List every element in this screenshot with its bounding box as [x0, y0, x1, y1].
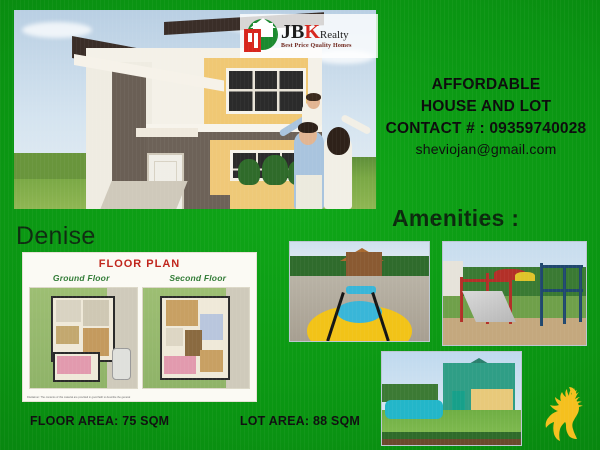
shrub — [238, 159, 260, 185]
amenities-heading: Amenities : — [392, 205, 519, 232]
prancing-horse-icon — [536, 384, 592, 442]
poster-canvas: JBK Realty Best Price Quality Homes AFFO… — [0, 0, 600, 450]
second-floor-plan-image — [142, 287, 251, 389]
father-hair — [298, 122, 318, 133]
cloud — [22, 22, 92, 38]
contact-line-affordable: AFFORDABLE — [378, 74, 594, 96]
floor-plan-title: FLOOR PLAN — [23, 258, 256, 270]
logo-text-block: JBK Realty Best Price Quality Homes — [281, 22, 352, 51]
area-specs-bar: FLOOR AREA: 75 SQM LOT AREA: 88 SQM — [30, 414, 360, 428]
contact-line-house-and-lot: HOUSE AND LOT — [378, 96, 594, 118]
walkway — [100, 181, 187, 209]
logo-realty-text: Realty — [320, 30, 349, 41]
contact-block: AFFORDABLE HOUSE AND LOT CONTACT # : 093… — [378, 74, 594, 160]
ground-floor-plan-image — [29, 287, 138, 389]
jbk-realty-logo: JBK Realty Best Price Quality Homes — [240, 14, 378, 58]
father-legs — [296, 175, 322, 209]
logo-house-icon — [244, 19, 278, 53]
logo-jbk-text: JBK — [281, 22, 320, 42]
porch-roof — [136, 128, 198, 137]
amenity-basketball-court-photo — [289, 241, 430, 342]
floor-area-text: FLOOR AREA: 75 SQM — [30, 414, 169, 428]
floor-plan-disclaimer: Disclaimer: The contents of this materia… — [27, 396, 252, 399]
amenity-playground-photo — [442, 241, 587, 346]
label-ground-floor: Ground Floor — [23, 273, 140, 283]
model-name-title: Denise — [16, 222, 96, 251]
mother-hair — [327, 127, 350, 155]
logo-tagline: Best Price Quality Homes — [281, 43, 352, 49]
amenity-clubhouse-pool-photo — [381, 351, 522, 446]
floor-plan-images — [23, 283, 256, 389]
contact-line-phone: CONTACT # : 09359740028 — [378, 118, 594, 140]
child-hair — [306, 93, 321, 101]
floor-plan-card: FLOOR PLAN Ground Floor Second Floor — [22, 252, 257, 402]
label-second-floor: Second Floor — [140, 273, 257, 283]
contact-line-email: sheviojan@gmail.com — [378, 140, 594, 160]
floor-plan-labels: Ground Floor Second Floor — [23, 273, 256, 283]
lot-area-text: LOT AREA: 88 SQM — [240, 414, 360, 428]
family-photo-cutout — [280, 101, 368, 209]
